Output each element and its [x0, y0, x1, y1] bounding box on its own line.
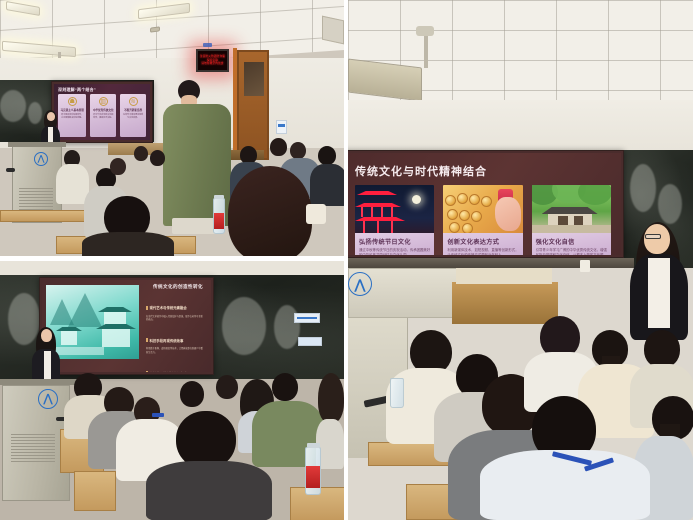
bullet-body: 在当代艺术创作中融入传统纹样与意境，赋予古老符号全新的表达。: [146, 316, 205, 323]
bullet-heading: 现代艺术与传统元素融合: [150, 306, 187, 310]
lecturer-head: [47, 112, 55, 121]
pagoda-column: [361, 207, 363, 217]
led-line-3: 请勿在教室内饮食: [201, 62, 223, 66]
chalk-smudge: [8, 293, 40, 345]
card-body: 利用新媒体技术，如短视频、直播等创新形式，让传统文化的传播方式更贴近年轻人。: [447, 248, 518, 255]
slide-card: 强化文化自信 引导青少年学习广博的中华优秀传统文化，增强民族自豪感和文化自信，从…: [532, 185, 611, 255]
lectern-vent: [19, 188, 53, 210]
chalk-smudge: [630, 164, 656, 212]
slide-bullet: 传统节日的创新庆祝方式 结合当代生活节奏，设计年轻人乐于参与的节庆活动形式。: [146, 362, 205, 373]
student-hair-long: [318, 373, 344, 423]
projector-ceiling-plate: [416, 26, 434, 36]
bottle-cap: [307, 443, 320, 448]
chalk-smudge: [274, 305, 300, 349]
landscape-painting: [46, 285, 139, 359]
slide-creative-transformation: 传统文化的创造性转化 现代艺术与传统元素融合 在当代艺术创作中融入传统纹样: [42, 280, 211, 372]
pagoda-body: [104, 312, 126, 325]
bottle-cap: [214, 195, 224, 199]
eyeglasses-icon: [645, 234, 661, 239]
lecturer-head: [41, 329, 52, 342]
university-emblem: ⋀: [38, 389, 58, 409]
pagoda-body: [61, 331, 77, 345]
lanyard: [152, 413, 164, 417]
emblem-ring: ⋀: [34, 152, 48, 166]
water-bottle: [305, 447, 321, 495]
university-emblem: ⋀: [348, 272, 372, 296]
student-head: [270, 138, 287, 156]
student-head: [180, 381, 204, 407]
card-heading: 弘扬传统节日文化: [359, 237, 430, 246]
slide-card: ☗ 马克思主义基本原理 同中国具体实际相结合，立足国情解决实际问题。: [58, 94, 86, 137]
umbrella-icon: ☗: [68, 97, 77, 106]
card-heading: 创新文化表达方式: [447, 237, 518, 246]
lecturer-shirt: [44, 351, 51, 379]
slide-card-list: 弘扬传统节日文化 通过中秋等传统节日的庆祝活动，传承团圆美好的中华民族共同记忆与…: [355, 185, 611, 255]
led-notice-sign: 注意防火防盗防诈骗 保持安静 请勿在教室内饮食: [196, 49, 229, 72]
chalk-smudge: [658, 184, 682, 224]
student-body: [146, 461, 272, 520]
mooncake: [447, 209, 458, 220]
collage-gutter-vertical: [344, 0, 348, 520]
water-bottle: [390, 378, 404, 408]
student-head: [644, 330, 680, 368]
mooncake: [481, 196, 492, 207]
wall-poster: [294, 313, 320, 323]
mooncake: [471, 211, 482, 222]
student-head: [134, 146, 148, 161]
slide-title: 深刻理解“两个结合”: [58, 87, 96, 93]
card-caption: 创新文化表达方式 利用新媒体技术，如短视频、直播等创新形式，让传统文化的传播方式…: [443, 233, 522, 255]
student-body: [82, 232, 174, 256]
student-head: [150, 150, 165, 166]
layers-icon: ≋: [129, 97, 138, 106]
student-head: [272, 373, 298, 401]
mooncake: [449, 222, 460, 233]
slide-bullet: 科技手段再现传统故事 利用数字影像、虚拟现实等技术，让经典故事在新媒介中重获生命…: [146, 329, 205, 356]
student-body: [310, 164, 344, 206]
slide-bullet-list: 现代艺术与传统元素融合 在当代艺术创作中融入传统纹样与意境，赋予古老符号全新的表…: [146, 296, 205, 372]
pagoda-body: [102, 329, 130, 347]
mooncake: [459, 210, 470, 221]
classroom-wall: [348, 100, 693, 152]
slide-card: ≋ 不断开辟新境界 在结合中推动理论创新与文化发展。: [120, 94, 146, 137]
card-body: 在结合中推动理论创新与文化发展。: [123, 114, 144, 120]
card-body: 同中华优秀传统文化相结合，赓续历史文脉。: [93, 114, 114, 120]
pavilion-wall: [52, 347, 104, 355]
wall-speaker: [322, 16, 344, 45]
red-pagoda-photo: [355, 185, 434, 233]
card-caption: 强化文化自信 引导青少年学习广博的中华优秀传统文化，增强民族自豪感和文化自信，从…: [532, 233, 611, 255]
student-body: [480, 450, 650, 520]
bullet-marker: [146, 338, 148, 342]
card-caption: 弘扬传统节日文化 通过中秋等传统节日的庆祝活动，传承团圆美好的中华民族共同记忆与…: [355, 233, 434, 255]
student-head: [216, 375, 238, 399]
slide-bullet: 现代艺术与传统元素融合 在当代艺术创作中融入传统纹样与意境，赋予古老符号全新的表…: [146, 296, 205, 323]
jacket-tag: [203, 43, 212, 47]
wall-poster: [298, 337, 322, 346]
mooncake: [457, 193, 468, 204]
student-hair-long: [228, 166, 312, 256]
bottle-label: [306, 466, 320, 488]
card-heading: 中华优秀传统文化: [93, 108, 114, 112]
card-heading: 不断开辟新境界: [124, 108, 142, 112]
pagoda-column: [391, 207, 393, 217]
bottle-label: [214, 213, 224, 229]
emblem-ring: ⋀: [348, 272, 372, 296]
paper-cup: [580, 260, 590, 272]
slide-card-list: ☗ 马克思主义基本原理 同中国具体实际相结合，立足国情解决实际问题。 ▥ 中华优…: [58, 94, 146, 137]
temple-roof: [542, 207, 598, 214]
projector-pole: [424, 32, 428, 68]
collage-gutter-horizontal: [0, 256, 344, 261]
slide-card: 创新文化表达方式 利用新媒体技术，如短视频、直播等创新形式，让传统文化的传播方式…: [443, 185, 522, 255]
projector-mount: [58, 52, 61, 58]
projection-screen: 传统文化的创造性转化 现代艺术与传统元素融合 在当代艺术创作中融入传统纹样: [39, 277, 214, 375]
tree: [578, 185, 611, 205]
mooncake: [445, 195, 456, 206]
card-heading: 马克思主义基本原理: [61, 108, 84, 112]
university-emblem: ⋀: [34, 152, 48, 166]
slide-title: 传统文化与时代精神结合: [355, 163, 487, 179]
panel-classroom-landscape-slide: 传统文化的创造性转化 现代艺术与传统元素融合 在当代艺术创作中融入传统纹样: [0, 261, 344, 520]
front-desk: [452, 282, 558, 324]
mooncake: [469, 194, 480, 205]
mountain: [68, 293, 102, 327]
slide-title: 传统文化的创造性转化: [153, 284, 203, 290]
water-bottle: [213, 198, 225, 234]
slide-card: 弘扬传统节日文化 通过中秋等传统节日的庆祝活动，传承团圆美好的中华民族共同记忆与…: [355, 185, 434, 255]
student-head: [290, 142, 306, 159]
slide-tradition-and-spirit: 传统文化与时代精神结合: [348, 153, 621, 255]
photo-collage: 注意防火防盗防诈骗 保持安静 请勿在教室内饮食 深刻理解“两个结合” ☗ 马: [0, 0, 693, 520]
bullet-marker: [146, 371, 148, 372]
pagoda-column: [391, 221, 393, 233]
screen-ledge: [348, 258, 634, 268]
temple-ground: [532, 225, 611, 233]
bullet-marker: [146, 306, 148, 310]
mooncake: [462, 223, 473, 233]
poster-band: [297, 317, 316, 319]
bullet-heading: 传统节日的创新庆祝方式: [150, 372, 187, 373]
student-desk: [74, 471, 116, 511]
moon: [412, 195, 421, 204]
hand: [495, 197, 521, 231]
book-icon: ▥: [99, 97, 108, 106]
projection-screen: 深刻理解“两个结合” ☗ 马克思主义基本原理 同中国具体实际相结合，立足国情解决…: [51, 81, 153, 143]
panel-speaker-and-screen: 传统文化与时代精神结合: [348, 0, 693, 520]
desk-top: [456, 268, 552, 284]
speaker-shirt: [648, 258, 670, 328]
card-body: 同中国具体实际相结合，立足国情解决实际问题。: [61, 114, 84, 120]
projection-screen: 传统文化与时代精神结合: [348, 150, 624, 258]
temple-photo: [532, 185, 611, 233]
door-window: [244, 62, 264, 96]
pagoda-roof: [357, 191, 397, 195]
bullet-heading: 科技手段再现传统故事: [150, 339, 184, 343]
chalk-smudge: [28, 102, 42, 124]
slide-card: ▥ 中华优秀传统文化 同中华优秀传统文化相结合，赓续历史文脉。: [90, 94, 116, 137]
poster-band: [278, 124, 285, 127]
emblem-ring: ⋀: [38, 389, 58, 409]
slide-two-combinations: 深刻理解“两个结合” ☗ 马克思主义基本原理 同中国具体实际相结合，立足国情解决…: [54, 84, 150, 140]
bullet-body: 利用数字影像、虚拟现实等技术，让经典故事在新媒介中重获生命力。: [146, 348, 205, 355]
student-head: [110, 158, 126, 175]
pagoda-column: [363, 221, 365, 233]
card-body: 引导青少年学习广博的中华优秀传统文化，增强民族自豪感和文化自信，从根本上筑牢文化…: [536, 248, 607, 255]
pagoda-column: [381, 207, 383, 217]
speaker-head: [644, 224, 670, 254]
lectern-top: [8, 142, 66, 147]
desk-item: [306, 204, 326, 224]
wall-poster: [276, 120, 287, 134]
card-body: 通过中秋等传统节日的庆祝活动，传承团圆美好的中华民族共同记忆与文化认同。: [359, 248, 430, 255]
classroom-door: [237, 50, 269, 160]
panel-classroom-wide: 注意防火防盗防诈骗 保持安静 请勿在教室内饮食 深刻理解“两个结合” ☗ 马: [0, 0, 344, 256]
microphone: [6, 168, 15, 172]
chalk-smudge: [222, 297, 266, 355]
lectern-vent: [11, 434, 55, 464]
pagoda-column: [371, 207, 373, 217]
card-heading: 强化文化自信: [536, 237, 607, 246]
mooncakes-photo: [443, 185, 522, 233]
chalk-smudge: [0, 90, 26, 122]
pagoda-column: [377, 221, 379, 233]
student-head: [318, 146, 336, 165]
